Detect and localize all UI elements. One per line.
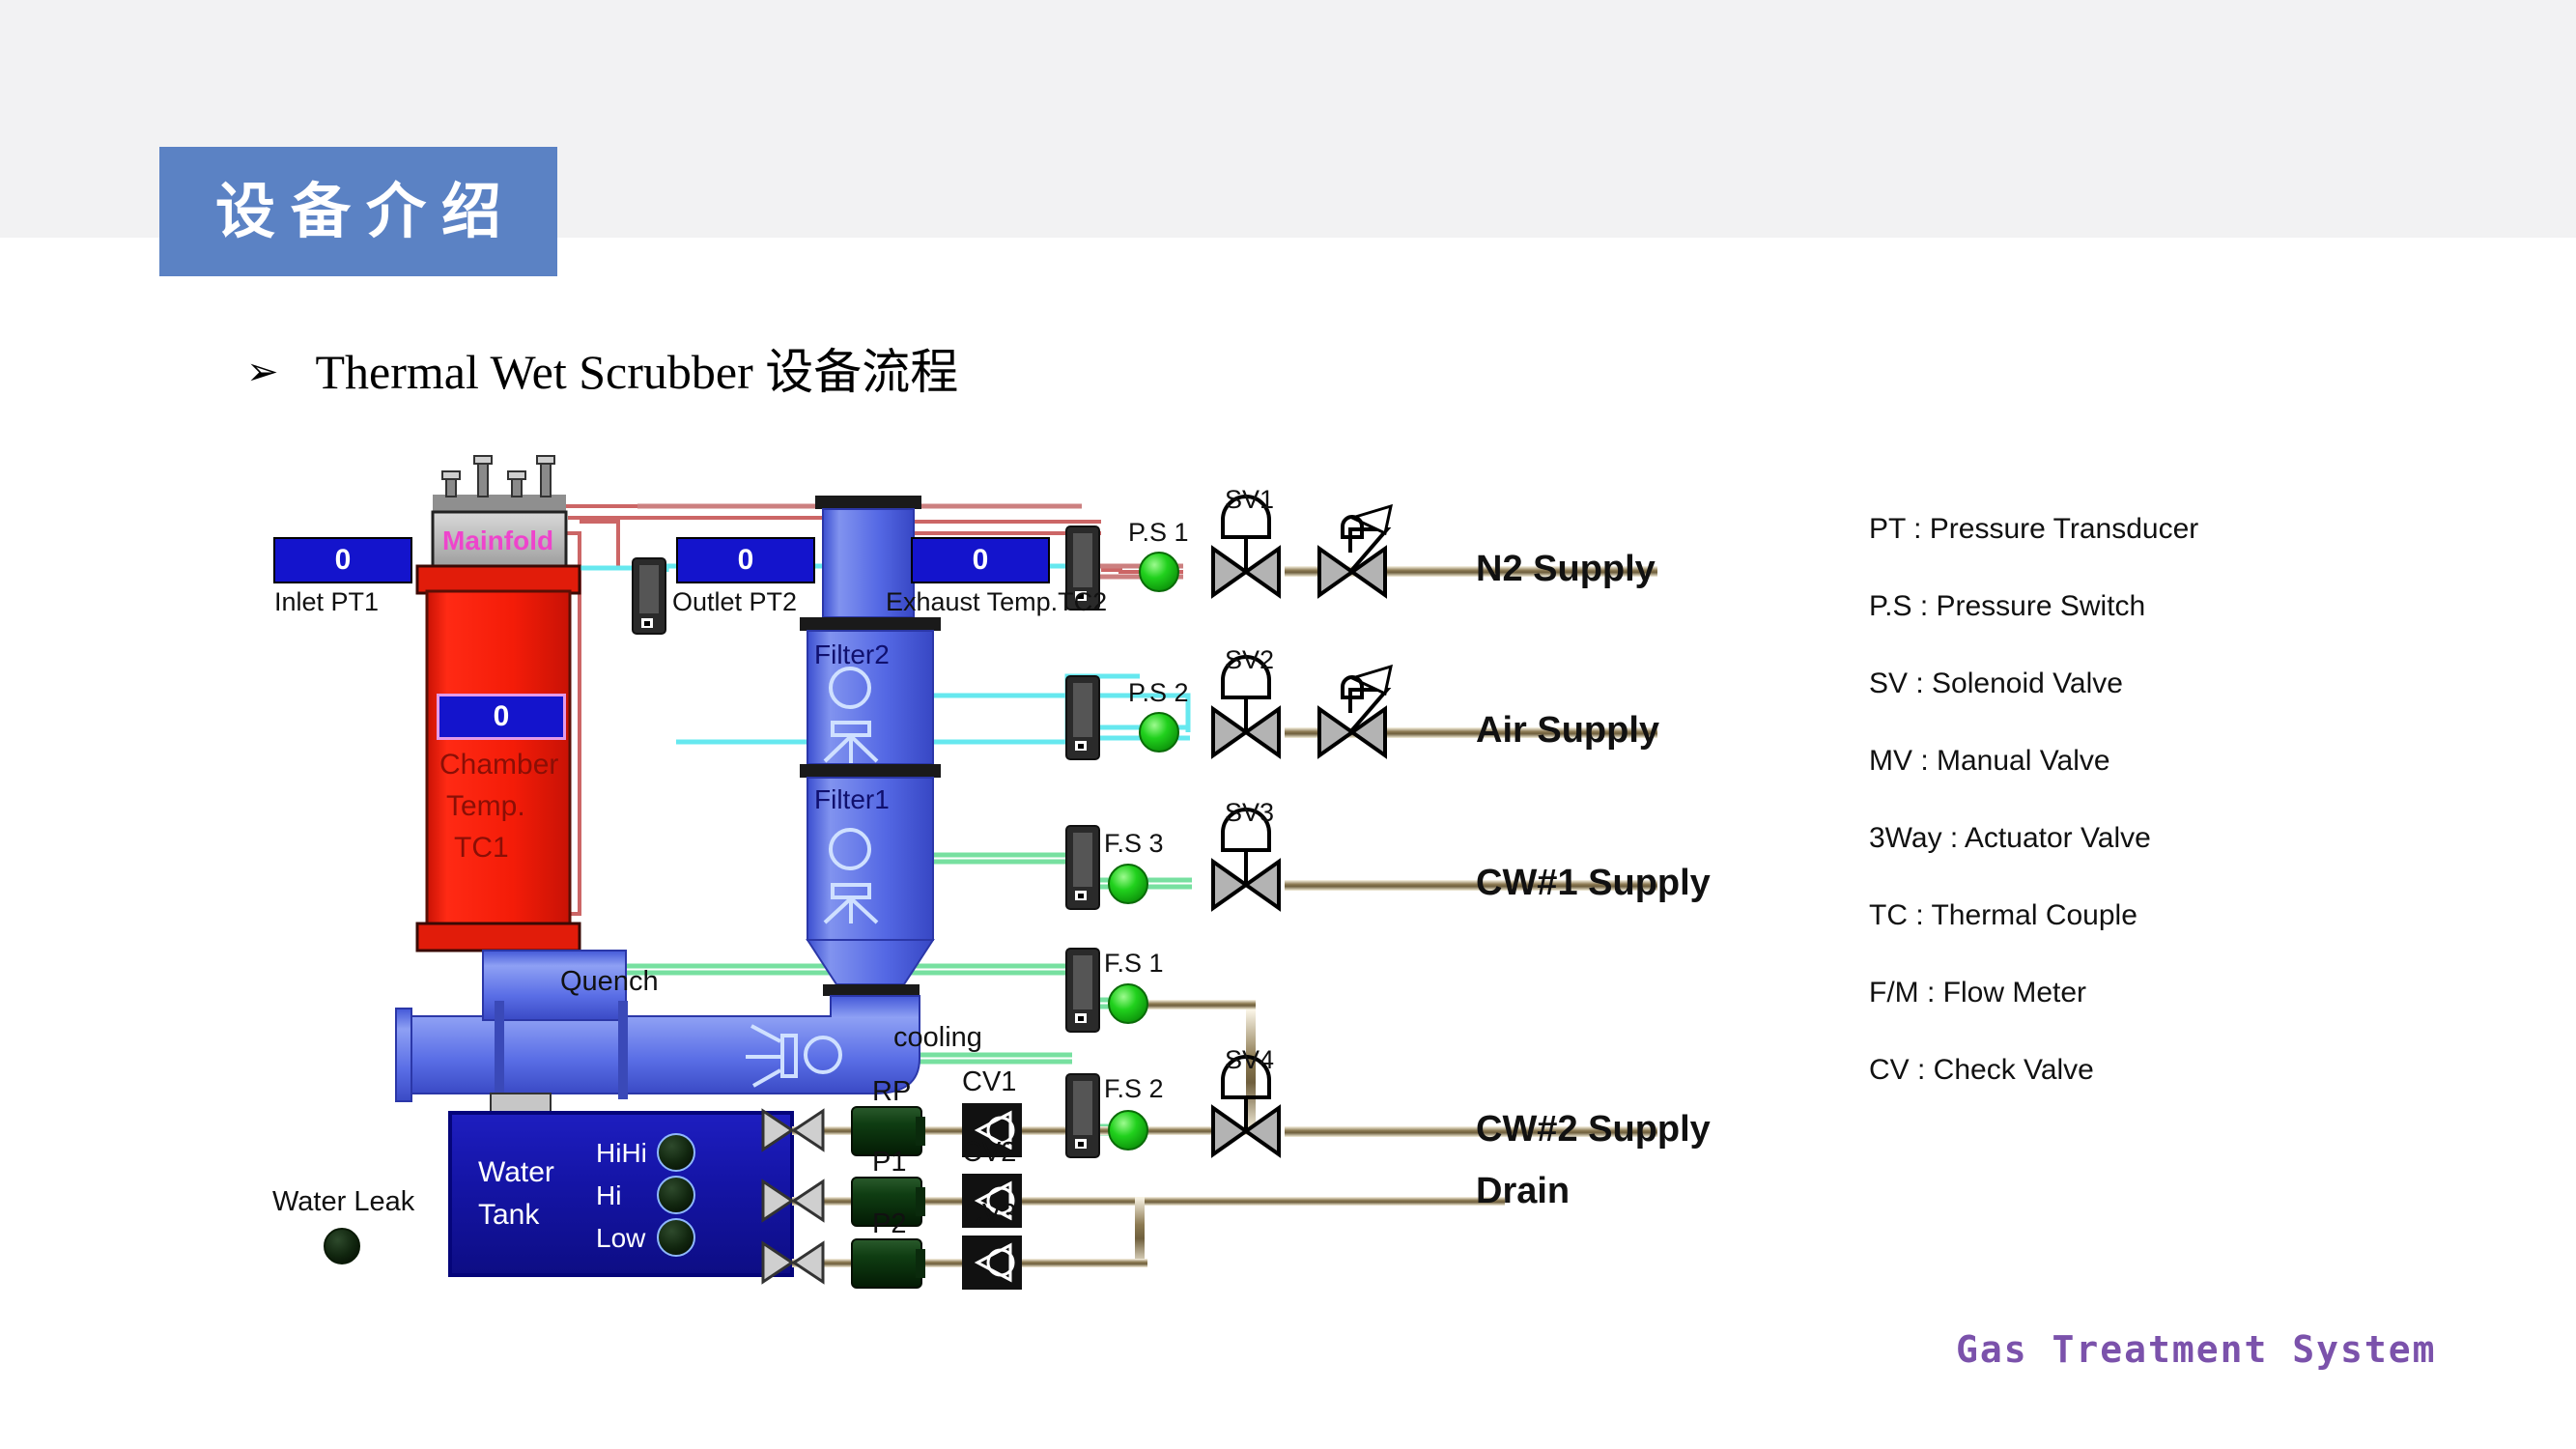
legend-item-3way: 3Way : Actuator Valve — [1869, 819, 2198, 896]
actuator-valve-n2-icon — [1319, 506, 1391, 595]
readout-exhaust-temp-label: Exhaust Temp.TC2 — [886, 587, 1107, 617]
cv2-label: CV2 — [962, 1137, 1016, 1169]
sv4-label: SV4 — [1225, 1045, 1274, 1075]
legend-item-mv: MV : Manual Valve — [1869, 742, 2198, 819]
fs1-lamp-icon — [1109, 984, 1147, 1023]
drain-label: Drain — [1476, 1171, 1570, 1212]
legend-item-tc: TC : Thermal Couple — [1869, 896, 2198, 974]
n2-supply-label: N2 Supply — [1476, 549, 1656, 590]
chamber-label-line2: Temp. — [446, 790, 525, 823]
water-tank-label-line1: Water — [478, 1156, 554, 1189]
fs3-label: F.S 3 — [1104, 829, 1164, 859]
fs3-lamp-icon — [1109, 865, 1147, 903]
readout-exhaust-temp-value: 0 — [911, 537, 1050, 583]
pump-p1-label: P1 — [872, 1147, 906, 1179]
readout-inlet-pt1-label: Inlet PT1 — [274, 587, 379, 617]
legend-item-pt: PT : Pressure Transducer — [1869, 510, 2198, 587]
chamber-label-line3: TC1 — [454, 832, 509, 865]
water-level-low-label: Low — [596, 1223, 645, 1254]
cv3-label: CV3 — [962, 1199, 1016, 1231]
legend-panel: PT : Pressure Transducer P.S : Pressure … — [1869, 510, 2198, 1128]
cw2-supply-label: CW#2 Supply — [1476, 1109, 1711, 1151]
tank-outlet-line-p2 — [763, 1239, 1147, 1288]
water-level-hihi-label: HiHi — [596, 1138, 647, 1169]
manifold-label: Mainfold — [442, 526, 553, 556]
brand-footer: Gas Treatment System — [1956, 1328, 2437, 1371]
ps1-label: P.S 1 — [1128, 518, 1189, 548]
legend-item-sv: SV : Solenoid Valve — [1869, 665, 2198, 742]
filter1-label: Filter1 — [814, 784, 890, 815]
cooling-label: cooling — [893, 1022, 982, 1054]
water-level-hi-label: Hi — [596, 1180, 621, 1211]
sv1-label: SV1 — [1225, 485, 1274, 515]
readout-outlet-pt2-label: Outlet PT2 — [672, 587, 797, 617]
cw2-riser-top — [1138, 1000, 1256, 1009]
readout-outlet-pt2-value: 0 — [676, 537, 815, 583]
readout-inlet-pt1-value: 0 — [273, 537, 412, 583]
pump-rp-label: RP — [872, 1076, 911, 1108]
sv3-label: SV3 — [1225, 798, 1274, 828]
fs1-label: F.S 1 — [1104, 949, 1164, 979]
quench-label: Quench — [560, 966, 659, 998]
fs2-lamp-icon — [1109, 1111, 1147, 1150]
filter2-label: Filter2 — [814, 639, 890, 670]
legend-item-ps: P.S : Pressure Switch — [1869, 587, 2198, 665]
ps2-lamp-icon — [1140, 713, 1178, 752]
legend-item-cv: CV : Check Valve — [1869, 1051, 2198, 1128]
sv2-label: SV2 — [1225, 645, 1274, 675]
readout-chamber-temp-value: 0 — [437, 694, 566, 740]
cw1-supply-label: CW#1 Supply — [1476, 863, 1711, 904]
chamber-label-line1: Chamber — [439, 749, 558, 781]
water-tank-label-line2: Tank — [478, 1199, 539, 1232]
ps2-label: P.S 2 — [1128, 678, 1189, 708]
cv1-label: CV1 — [962, 1066, 1016, 1098]
fs2-label: F.S 2 — [1104, 1074, 1164, 1104]
water-leak-label: Water Leak — [272, 1186, 414, 1218]
check-valve-cv3-icon — [962, 1236, 1022, 1290]
water-leak-sensor-icon — [325, 1229, 359, 1264]
actuator-valve-air-icon — [1319, 667, 1391, 755]
pump-p2-label: P2 — [872, 1208, 906, 1240]
ps1-lamp-icon — [1140, 553, 1178, 591]
air-supply-label: Air Supply — [1476, 710, 1659, 752]
legend-item-fm: F/M : Flow Meter — [1869, 974, 2198, 1051]
